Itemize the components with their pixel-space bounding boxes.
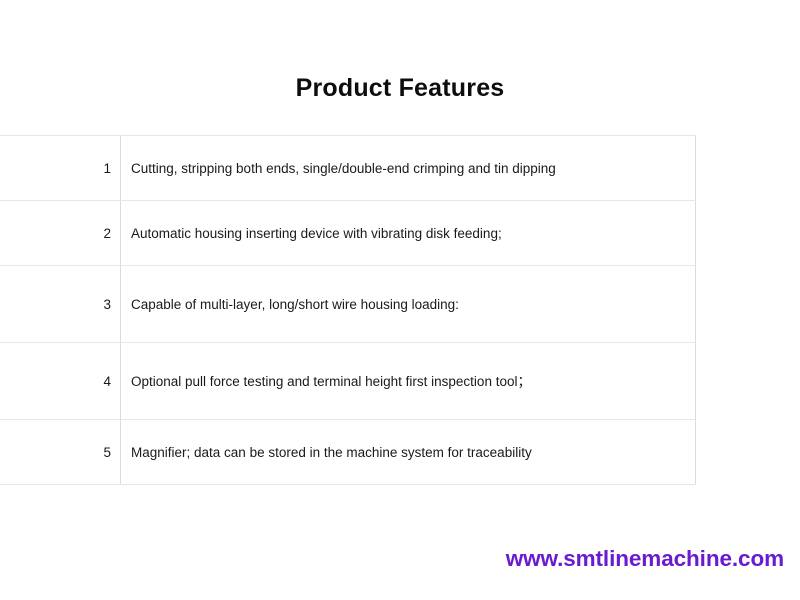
feature-number: 3 [0, 266, 121, 343]
feature-number: 1 [0, 136, 121, 201]
page-title: Product Features [0, 72, 800, 104]
table-row: 3 Capable of multi-layer, long/short wir… [0, 266, 696, 343]
table-row: 4 Optional pull force testing and termin… [0, 343, 696, 420]
footer-website-url[interactable]: www.smtlinemachine.com [506, 545, 784, 573]
table-row: 2 Automatic housing inserting device wit… [0, 201, 696, 266]
product-features-table: 1 Cutting, stripping both ends, single/d… [0, 135, 696, 485]
feature-text: Automatic housing inserting device with … [121, 201, 696, 266]
feature-text: Magnifier; data can be stored in the mac… [121, 420, 696, 485]
table-row: 1 Cutting, stripping both ends, single/d… [0, 136, 696, 201]
feature-number: 4 [0, 343, 121, 420]
feature-number: 2 [0, 201, 121, 266]
slide-canvas: Product Features 1 Cutting, stripping bo… [0, 0, 800, 600]
feature-text: Optional pull force testing and terminal… [121, 343, 696, 420]
feature-number: 5 [0, 420, 121, 485]
feature-text: Capable of multi-layer, long/short wire … [121, 266, 696, 343]
table-row: 5 Magnifier; data can be stored in the m… [0, 420, 696, 485]
feature-text: Cutting, stripping both ends, single/dou… [121, 136, 696, 201]
